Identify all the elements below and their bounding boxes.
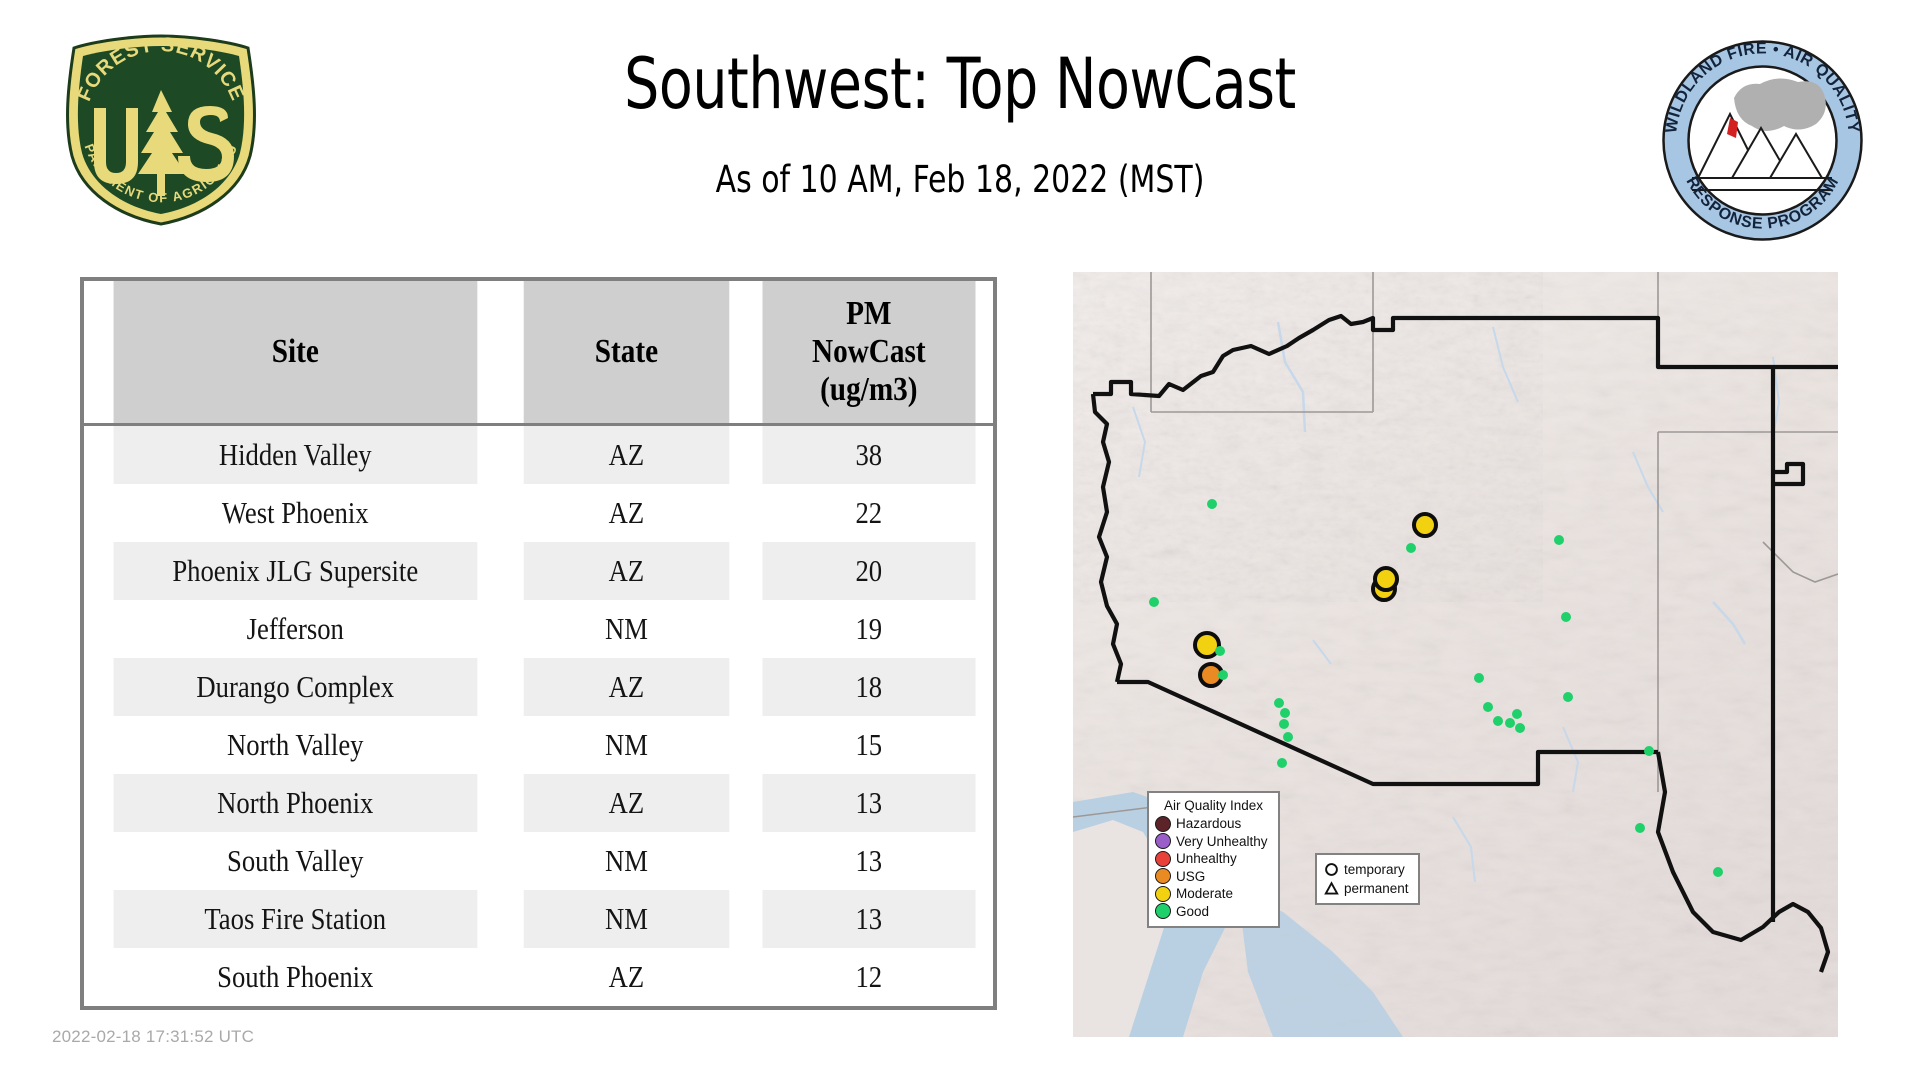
table-row: North ValleyNM15 [84, 716, 993, 774]
page-subtitle: As of 10 AM, Feb 18, 2022 (MST) [366, 122, 1554, 201]
cell-site: Taos Fire Station [114, 890, 477, 948]
usda-forest-service-shield-logo: FOREST SERVICE DEPARTMENT OF AGRICULTURE [52, 32, 270, 228]
map-marker-moderate[interactable] [1375, 568, 1397, 590]
cell-state: AZ [523, 658, 728, 716]
aqi-legend-label: Unhealthy [1176, 851, 1237, 866]
map-marker-good[interactable] [1277, 758, 1287, 768]
aqi-legend: Air Quality Index HazardousVery Unhealth… [1147, 791, 1280, 928]
map-marker-good[interactable] [1563, 692, 1573, 702]
aqi-legend-label: USG [1176, 869, 1205, 884]
cell-state: AZ [523, 948, 728, 1006]
map-marker-good[interactable] [1218, 670, 1228, 680]
column-header-pm-nowcast: PM NowCast (ug/m3) [763, 281, 976, 425]
cell-state: AZ [523, 774, 728, 832]
aqi-legend-item: Unhealthy [1155, 850, 1272, 868]
table-row: Durango ComplexAZ18 [84, 658, 993, 716]
map-marker-good[interactable] [1554, 535, 1564, 545]
column-header-pm-line3: (ug/m3) [820, 371, 917, 408]
cell-site: Durango Complex [114, 658, 477, 716]
cell-pm-nowcast: 22 [763, 484, 976, 542]
cell-pm-nowcast: 13 [763, 890, 976, 948]
wildland-fire-air-quality-response-program-logo: WILDLAND FIRE • AIR QUALITY RESPONSE PRO… [1660, 38, 1865, 243]
cell-state: NM [523, 716, 728, 774]
aqi-legend-item: Moderate [1155, 885, 1272, 903]
map-marker-good[interactable] [1561, 612, 1571, 622]
cell-pm-nowcast: 13 [763, 774, 976, 832]
site-type-legend: temporary permanent [1315, 853, 1420, 905]
column-header-pm-line2: NowCast [812, 333, 926, 370]
cell-pm-nowcast: 13 [763, 832, 976, 890]
cell-site: South Phoenix [114, 948, 477, 1006]
aqi-legend-title: Air Quality Index [1155, 798, 1272, 813]
map-marker-good[interactable] [1644, 746, 1654, 756]
table-row: Taos Fire StationNM13 [84, 890, 993, 948]
legend-row-temporary: temporary [1324, 860, 1411, 879]
cell-pm-nowcast: 18 [763, 658, 976, 716]
map-marker-good[interactable] [1279, 719, 1289, 729]
cell-site: North Valley [114, 716, 477, 774]
table-row: Hidden ValleyAZ38 [84, 425, 993, 485]
air-quality-map[interactable]: Air Quality Index HazardousVery Unhealth… [1073, 272, 1838, 1037]
cell-pm-nowcast: 19 [763, 600, 976, 658]
cell-pm-nowcast: 38 [763, 425, 976, 485]
table-row: South PhoenixAZ12 [84, 948, 993, 1006]
aqi-swatch-icon [1155, 886, 1171, 902]
aqi-swatch-icon [1155, 851, 1171, 867]
title-block: Southwest: Top NowCast As of 10 AM, Feb … [300, 48, 1620, 201]
map-marker-good[interactable] [1713, 867, 1723, 877]
temporary-circle-icon [1324, 862, 1339, 877]
aqi-swatch-icon [1155, 903, 1171, 919]
aqi-legend-item: Hazardous [1155, 815, 1272, 833]
map-marker-good[interactable] [1283, 732, 1293, 742]
nowcast-table-container: Site State PM NowCast (ug/m3) Hidden Val… [80, 277, 997, 1010]
map-marker-good[interactable] [1280, 708, 1290, 718]
map-marker-good[interactable] [1505, 718, 1515, 728]
map-marker-good[interactable] [1512, 709, 1522, 719]
column-header-site: Site [114, 281, 477, 425]
map-marker-good[interactable] [1406, 543, 1416, 553]
table-header-row: Site State PM NowCast (ug/m3) [84, 281, 993, 425]
header-bar: FOREST SERVICE DEPARTMENT OF AGRICULTURE… [0, 0, 1920, 270]
legend-row-permanent: permanent [1324, 879, 1411, 898]
map-marker-good[interactable] [1207, 499, 1217, 509]
cell-state: AZ [523, 542, 728, 600]
aqi-legend-label: Hazardous [1176, 816, 1241, 831]
aqi-swatch-icon [1155, 833, 1171, 849]
cell-site: Phoenix JLG Supersite [114, 542, 477, 600]
map-marker-good[interactable] [1493, 716, 1503, 726]
table-row: JeffersonNM19 [84, 600, 993, 658]
cell-state: NM [523, 832, 728, 890]
table-body: Hidden ValleyAZ38West PhoenixAZ22Phoenix… [84, 425, 993, 1007]
map-marker-good[interactable] [1149, 597, 1159, 607]
cell-pm-nowcast: 15 [763, 716, 976, 774]
cell-site: Hidden Valley [114, 425, 477, 485]
legend-label-permanent: permanent [1344, 881, 1409, 896]
aqi-legend-item: Good [1155, 903, 1272, 921]
cell-site: Jefferson [114, 600, 477, 658]
aqi-swatch-icon [1155, 816, 1171, 832]
aqi-legend-rows: HazardousVery UnhealthyUnhealthyUSGModer… [1155, 815, 1272, 920]
aqi-swatch-icon [1155, 868, 1171, 884]
column-header-state: State [523, 281, 728, 425]
cell-site: West Phoenix [114, 484, 477, 542]
aqi-legend-label: Good [1176, 904, 1209, 919]
aqi-legend-item: Very Unhealthy [1155, 833, 1272, 851]
cell-state: NM [523, 890, 728, 948]
cell-state: NM [523, 600, 728, 658]
aqi-legend-item: USG [1155, 868, 1272, 886]
map-marker-moderate[interactable] [1414, 514, 1436, 536]
map-marker-good[interactable] [1515, 723, 1525, 733]
map-marker-good[interactable] [1215, 646, 1225, 656]
permanent-triangle-icon [1324, 881, 1339, 896]
table-header: Site State PM NowCast (ug/m3) [84, 281, 993, 425]
cell-state: AZ [523, 484, 728, 542]
legend-label-temporary: temporary [1344, 862, 1405, 877]
aqi-legend-label: Very Unhealthy [1176, 834, 1268, 849]
generation-timestamp: 2022-02-18 17:31:52 UTC [52, 1027, 254, 1047]
table-row: North PhoenixAZ13 [84, 774, 993, 832]
map-marker-good[interactable] [1474, 673, 1484, 683]
table-row: West PhoenixAZ22 [84, 484, 993, 542]
map-marker-moderate[interactable] [1195, 633, 1219, 657]
cell-state: AZ [523, 425, 728, 485]
column-header-pm-line1: PM [846, 295, 891, 332]
cell-site: South Valley [114, 832, 477, 890]
table-row: Phoenix JLG SupersiteAZ20 [84, 542, 993, 600]
nowcast-table: Site State PM NowCast (ug/m3) Hidden Val… [84, 281, 993, 1006]
page-title: Southwest: Top NowCast [379, 48, 1541, 122]
cell-pm-nowcast: 12 [763, 948, 976, 1006]
aqi-legend-label: Moderate [1176, 886, 1233, 901]
cell-site: North Phoenix [114, 774, 477, 832]
cell-pm-nowcast: 20 [763, 542, 976, 600]
table-row: South ValleyNM13 [84, 832, 993, 890]
map-marker-good[interactable] [1483, 702, 1493, 712]
map-marker-good[interactable] [1274, 698, 1284, 708]
map-marker-good[interactable] [1635, 823, 1645, 833]
